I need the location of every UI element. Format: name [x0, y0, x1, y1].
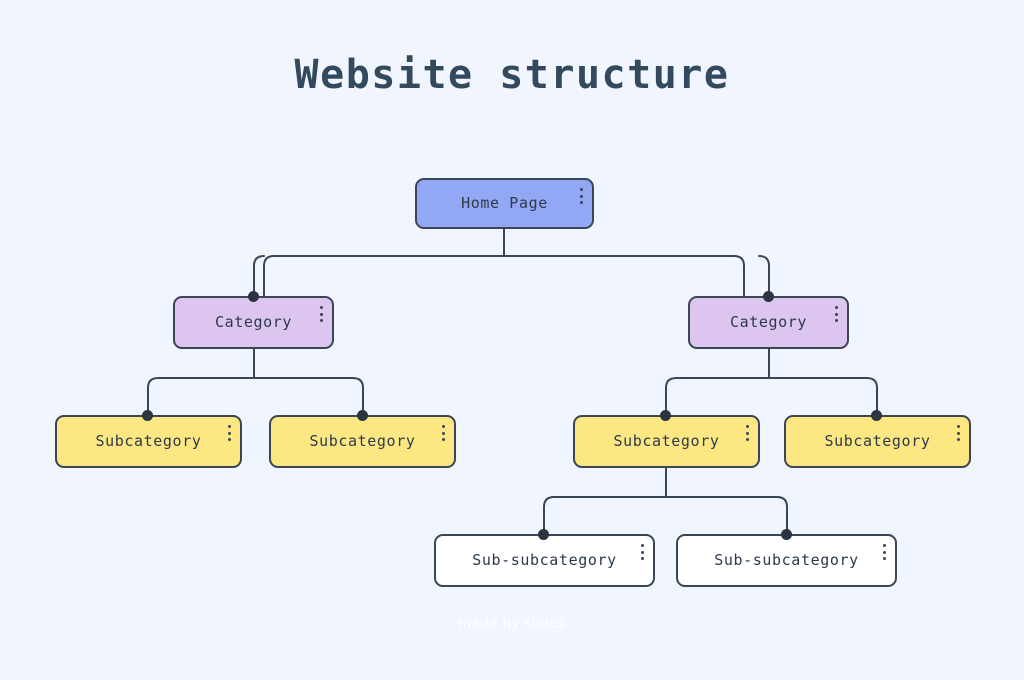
edge-home-to-categories — [264, 229, 744, 296]
node-label: Sub-subcategory — [472, 553, 616, 568]
node-label: Category — [215, 315, 292, 330]
node-category-1[interactable]: Category — [173, 296, 334, 349]
connector-dot-category-2 — [763, 291, 774, 302]
node-subcategory-1[interactable]: Subcategory — [55, 415, 242, 468]
node-label: Sub-subcategory — [714, 553, 858, 568]
edge-sub3-bus — [544, 497, 787, 534]
kebab-menu-icon[interactable] — [319, 306, 323, 322]
node-label: Category — [730, 315, 807, 330]
kebab-menu-icon[interactable] — [834, 306, 838, 322]
node-label: Subcategory — [614, 434, 720, 449]
connector-dot-sub-subcategory-1 — [538, 529, 549, 540]
node-label: Subcategory — [310, 434, 416, 449]
diagram-canvas: Website structure Home Page Category — [0, 0, 1024, 680]
node-label: Home Page — [461, 196, 548, 211]
connector-dot-category-1 — [248, 291, 259, 302]
edge-cat1-bus — [148, 378, 363, 415]
node-subcategory-2[interactable]: Subcategory — [269, 415, 456, 468]
connector-dot-subcategory-1 — [142, 410, 153, 421]
kebab-menu-icon[interactable] — [745, 425, 749, 441]
node-label: Subcategory — [825, 434, 931, 449]
node-sub-subcategory-1[interactable]: Sub-subcategory — [434, 534, 655, 587]
kebab-menu-icon[interactable] — [227, 425, 231, 441]
node-subcategory-3[interactable]: Subcategory — [573, 415, 760, 468]
kebab-menu-icon[interactable] — [882, 544, 886, 560]
node-label: Subcategory — [96, 434, 202, 449]
node-category-2[interactable]: Category — [688, 296, 849, 349]
node-home-page[interactable]: Home Page — [415, 178, 594, 229]
connector-dot-sub-subcategory-2 — [781, 529, 792, 540]
kebab-menu-icon[interactable] — [441, 425, 445, 441]
kebab-menu-icon[interactable] — [579, 188, 583, 204]
edge-bus-level2 — [254, 256, 769, 266]
kebab-menu-icon[interactable] — [956, 425, 960, 441]
connector-dot-subcategory-3 — [660, 410, 671, 421]
edge-cat2-bus — [666, 378, 877, 415]
kebab-menu-icon[interactable] — [640, 544, 644, 560]
node-sub-subcategory-2[interactable]: Sub-subcategory — [676, 534, 897, 587]
connector-dot-subcategory-4 — [871, 410, 882, 421]
connector-dot-subcategory-2 — [357, 410, 368, 421]
node-subcategory-4[interactable]: Subcategory — [784, 415, 971, 468]
